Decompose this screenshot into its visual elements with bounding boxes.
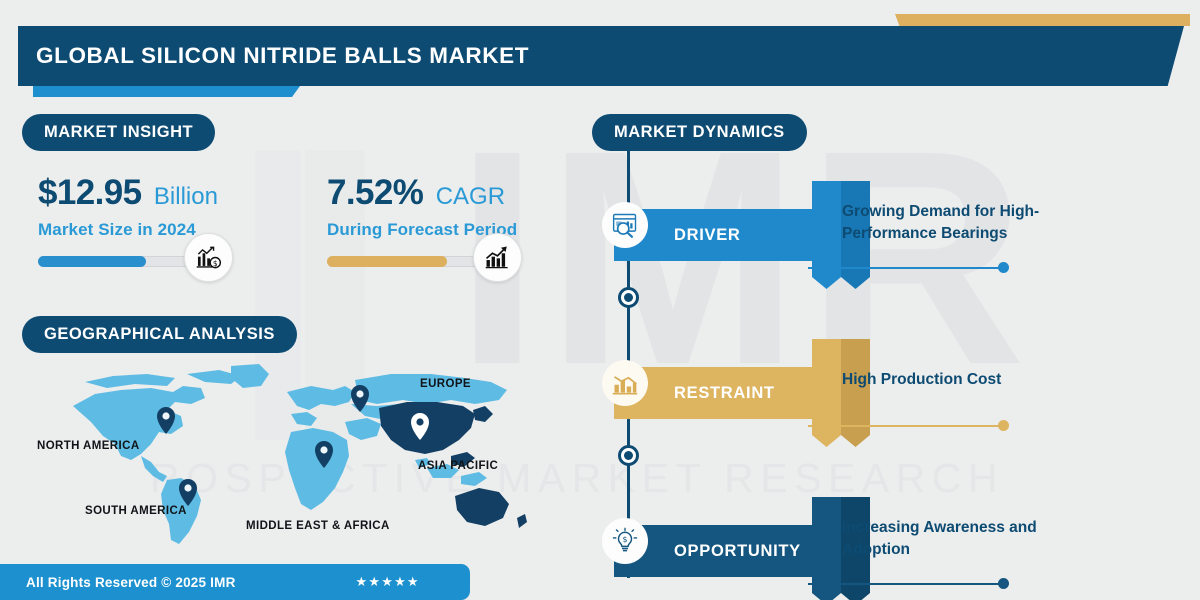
kpi-cagr-bar bbox=[327, 254, 502, 269]
restraint-underline bbox=[808, 425, 1004, 427]
kpi-cagr: 7.52% CAGR During Forecast Period bbox=[327, 175, 517, 269]
footer-bar: All Rights Reserved © 2025 IMR ★★★★★ bbox=[0, 564, 470, 600]
kpi-market-size: $12.95 Billion Market Size in 2024 $ bbox=[38, 175, 218, 269]
driver-underline bbox=[808, 267, 1004, 269]
market-dynamics-flow: DRIVER Growing Demand for High-Performan… bbox=[592, 110, 1192, 590]
driver-label: DRIVER bbox=[674, 209, 741, 261]
kpi-market-size-bar: $ bbox=[38, 254, 213, 269]
infographic-root: IMR ROSPECTIVE MARKET RESEARCH GLOBAL SI… bbox=[0, 0, 1200, 600]
header-banner: GLOBAL SILICON NITRIDE BALLS MARKET bbox=[18, 26, 1184, 86]
map-label-south-america: SOUTH AMERICA bbox=[85, 505, 187, 517]
map-label-europe: EUROPE bbox=[420, 378, 471, 390]
dynamics-item-driver[interactable]: DRIVER Growing Demand for High-Performan… bbox=[592, 175, 1192, 305]
kpi-market-size-caption: Market Size in 2024 bbox=[38, 220, 218, 240]
lightbulb-dollar-icon: $ bbox=[602, 518, 648, 564]
restraint-end-dot bbox=[998, 420, 1009, 431]
restraint-label: RESTRAINT bbox=[674, 367, 775, 419]
world-map: NORTH AMERICA SOUTH AMERICA EUROPE MIDDL… bbox=[55, 360, 565, 560]
kpi-cagr-unit: CAGR bbox=[436, 183, 505, 211]
map-landmasses bbox=[73, 364, 507, 544]
dynamics-item-restraint[interactable]: RESTRAINT High Production Cost bbox=[592, 333, 1192, 463]
map-label-middle-east-africa: MIDDLE EAST & AFRICA bbox=[246, 520, 390, 532]
restraint-text: High Production Cost bbox=[842, 369, 1092, 391]
growth-arrow-chart-icon bbox=[473, 233, 522, 282]
opportunity-end-dot bbox=[998, 578, 1009, 589]
opportunity-text: Increasing Awareness and Adoption bbox=[842, 517, 1092, 561]
kpi-market-size-value: $12.95 bbox=[38, 175, 141, 210]
analysis-magnifier-icon bbox=[602, 202, 648, 248]
page-title: GLOBAL SILICON NITRIDE BALLS MARKET bbox=[36, 43, 529, 69]
dynamics-item-opportunity[interactable]: OPPORTUNITY $ Increasing bbox=[592, 491, 1192, 600]
header-accent-bar bbox=[33, 86, 300, 97]
bar-chart-dollar-icon: $ bbox=[184, 233, 233, 282]
kpi-cagr-bar-fill bbox=[327, 256, 447, 267]
market-insight-pill: MARKET INSIGHT bbox=[22, 114, 215, 151]
opportunity-underline bbox=[808, 583, 1004, 585]
map-label-north-america: NORTH AMERICA bbox=[37, 440, 140, 452]
kpi-cagr-value: 7.52% bbox=[327, 175, 423, 210]
svg-text:$: $ bbox=[622, 535, 627, 544]
geographical-analysis-pill: GEOGRAPHICAL ANALYSIS bbox=[22, 316, 297, 353]
kpi-market-size-bar-fill bbox=[38, 256, 146, 267]
driver-end-dot bbox=[998, 262, 1009, 273]
geographical-analysis-pill-label: GEOGRAPHICAL ANALYSIS bbox=[44, 325, 275, 344]
svg-text:$: $ bbox=[213, 259, 218, 268]
opportunity-label: OPPORTUNITY bbox=[674, 525, 801, 577]
kpi-market-size-unit: Billion bbox=[154, 183, 218, 211]
footer-rating-stars: ★★★★★ bbox=[356, 574, 420, 590]
footer-copyright: All Rights Reserved © 2025 IMR bbox=[26, 575, 236, 590]
header-gold-strip bbox=[895, 14, 1190, 26]
map-label-asia-pacific: ASIA PACIFIC bbox=[418, 460, 498, 472]
market-insight-pill-label: MARKET INSIGHT bbox=[44, 123, 193, 142]
driver-text: Growing Demand for High-Performance Bear… bbox=[842, 201, 1092, 245]
declining-bar-chart-icon bbox=[602, 360, 648, 406]
